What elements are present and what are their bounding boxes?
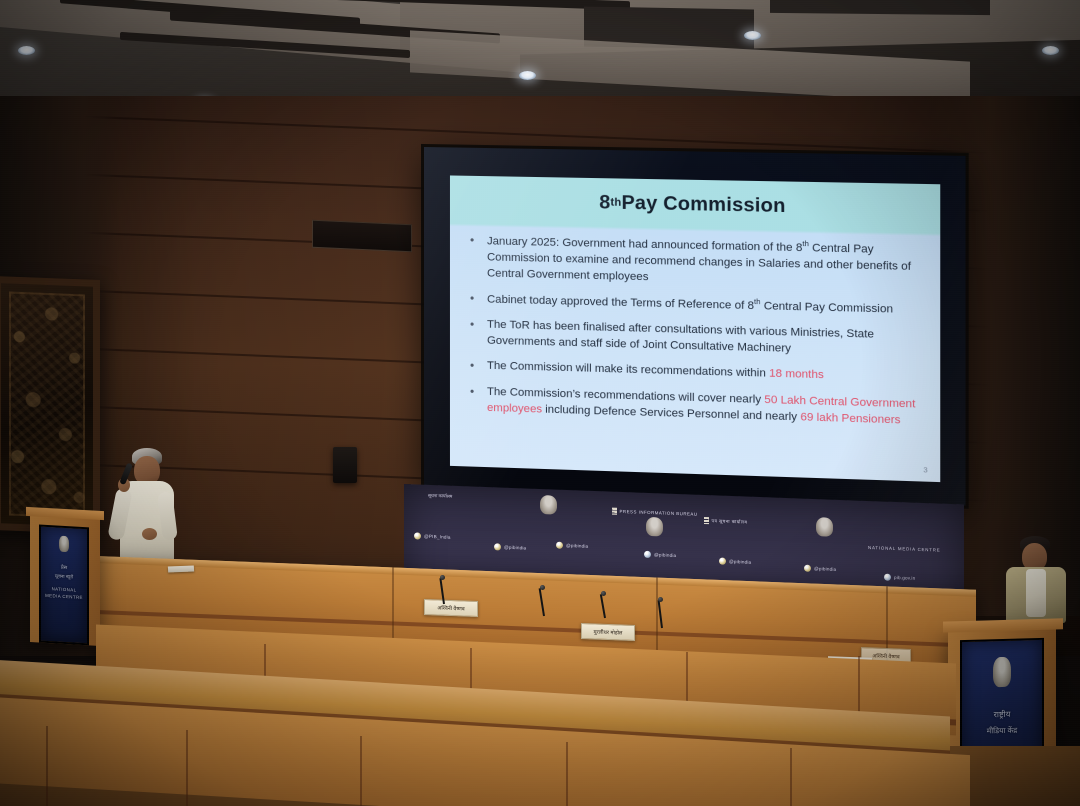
left-podium-plaque: प्रेस सूचना ब्यूरो NATIONAL MEDIA CENTRE bbox=[39, 525, 89, 646]
ceiling-downlight bbox=[1042, 46, 1059, 55]
backdrop-emblem-icon bbox=[816, 517, 833, 537]
ceiling-downlight bbox=[519, 71, 536, 80]
bullet-marker-icon: • bbox=[470, 357, 479, 374]
plaque-line-3: NATIONAL bbox=[52, 586, 77, 592]
projection-screen: 8th Pay Commission •January 2025: Govern… bbox=[424, 147, 966, 506]
official-shirt bbox=[1026, 569, 1046, 617]
seated-official bbox=[998, 536, 1074, 622]
ashoka-emblem-icon bbox=[59, 536, 69, 553]
slide-title-number: 8 bbox=[599, 191, 610, 214]
riser-seam bbox=[186, 730, 188, 806]
backdrop-handle: @pibindia bbox=[644, 551, 676, 559]
handle-text: @pibindia bbox=[566, 543, 588, 549]
bullet-segment: Cabinet today approved the Terms of Refe… bbox=[487, 293, 754, 312]
slide-title-rest: Pay Commission bbox=[621, 191, 785, 217]
microphone-head-icon bbox=[440, 575, 445, 580]
riser-seam bbox=[566, 742, 568, 806]
handle-text: @PIB_India bbox=[424, 534, 451, 540]
bullet-highlight: 69 lakh Pensioners bbox=[800, 411, 900, 426]
backdrop-emblem-icon bbox=[646, 517, 663, 537]
slide-bullet-list: •January 2025: Government had announced … bbox=[470, 232, 923, 439]
backdrop-website: pib.gov.in bbox=[884, 574, 915, 582]
backdrop-handle: @pibindia bbox=[494, 543, 526, 551]
speaker-right-hand bbox=[142, 528, 157, 540]
bullet-segment: January 2025: Government had announced f… bbox=[487, 235, 802, 254]
presentation-slide: 8th Pay Commission •January 2025: Govern… bbox=[450, 175, 940, 482]
plaque-line-1: राष्ट्रीय bbox=[994, 709, 1011, 720]
backdrop-hindi-mark: सूचना कार्यालय bbox=[428, 493, 452, 500]
slide-bullet: •The Commission’s recommendations will c… bbox=[470, 383, 923, 429]
ceiling-downlight bbox=[18, 46, 35, 55]
bullet-marker-icon: • bbox=[470, 290, 479, 307]
riser-seam bbox=[46, 726, 48, 806]
backdrop-org-mark: पत्र सूचना कार्यालय bbox=[704, 517, 747, 526]
bullet-marker-icon: • bbox=[470, 383, 479, 415]
bullet-segment: The Commission will make its recommendat… bbox=[487, 360, 769, 380]
slide-title-ordinal: th bbox=[610, 197, 621, 209]
carved-wall-artwork bbox=[0, 276, 100, 534]
bullet-text: The ToR has been finalised after consult… bbox=[487, 316, 923, 360]
backdrop-org-text: PRESS INFORMATION BUREAU bbox=[620, 509, 698, 517]
bullet-text: The Commission’s recommendations will co… bbox=[487, 384, 923, 429]
wall-speaker-icon bbox=[333, 447, 357, 483]
slide-page-number: 3 bbox=[923, 465, 927, 474]
handle-text: @pibindia bbox=[504, 545, 526, 551]
nameplate: मुरलीधर मोहोल bbox=[581, 623, 635, 641]
bullet-marker-icon: • bbox=[470, 232, 479, 281]
bullet-segment: Central Pay Commission bbox=[761, 300, 894, 315]
plaque-line-4: MEDIA CENTRE bbox=[45, 593, 83, 600]
nameplate-text: मुरलीधर मोहोल bbox=[594, 627, 623, 636]
microphone-head-icon bbox=[658, 597, 663, 602]
nameplate-text: अश्विनी वैष्णव bbox=[872, 651, 899, 660]
nameplate: अश्विनी वैष्णव bbox=[424, 599, 478, 617]
bullet-text: Cabinet today approved the Terms of Refe… bbox=[487, 290, 923, 318]
left-podium: प्रेस सूचना ब्यूरो NATIONAL MEDIA CENTRE bbox=[30, 514, 100, 646]
nameplate-text: अश्विनी वैष्णव bbox=[437, 603, 464, 612]
ashoka-emblem-icon bbox=[993, 657, 1011, 688]
handle-text: @pibindia bbox=[729, 559, 751, 565]
plaque-line-1: प्रेस bbox=[61, 565, 67, 571]
press-conference-photo: 8th Pay Commission •January 2025: Govern… bbox=[0, 0, 1080, 806]
website-text: pib.gov.in bbox=[894, 575, 915, 581]
bullet-segment: The ToR has been finalised after consult… bbox=[487, 318, 874, 354]
backdrop-emblem-icon bbox=[540, 495, 557, 515]
handle-text: @pibindia bbox=[654, 552, 676, 558]
riser-seam bbox=[360, 736, 362, 806]
wall-vent-panel bbox=[312, 220, 412, 253]
slide-bullet: •January 2025: Government had announced … bbox=[470, 232, 923, 292]
bullet-marker-icon: • bbox=[470, 316, 479, 348]
riser-seam bbox=[790, 748, 792, 806]
ceiling-downlight bbox=[744, 31, 761, 40]
plaque-line-2: सूचना ब्यूरो bbox=[55, 573, 73, 580]
bullet-text: The Commission will make its recommendat… bbox=[487, 358, 923, 387]
slide-bullet: •The ToR has been finalised after consul… bbox=[470, 316, 923, 360]
documents-on-table bbox=[168, 566, 194, 573]
plaque-line-2: मीडिया केंद्र bbox=[987, 726, 1018, 737]
backdrop-brand-text: NATIONAL MEDIA CENTRE bbox=[868, 545, 940, 553]
slide-bullet: •Cabinet today approved the Terms of Ref… bbox=[470, 290, 923, 318]
handle-text: @pibindia bbox=[814, 566, 836, 572]
backdrop-handle: @PIB_India bbox=[414, 532, 451, 540]
bullet-text: January 2025: Government had announced f… bbox=[487, 232, 923, 291]
bullet-segment: including Defence Services Personnel and… bbox=[542, 404, 800, 424]
backdrop-handle: @pibindia bbox=[556, 542, 588, 550]
microphone-head-icon bbox=[540, 585, 545, 590]
slide-title: 8th Pay Commission bbox=[450, 175, 940, 233]
slide-bullet: •The Commission will make its recommenda… bbox=[470, 357, 923, 387]
backdrop-handle: @pibindia bbox=[804, 565, 836, 573]
backdrop-hindi-text: पत्र सूचना कार्यालय bbox=[712, 518, 748, 525]
backdrop-handle: @pibindia bbox=[719, 558, 751, 566]
microphone-head-icon bbox=[601, 591, 606, 596]
bullet-highlight: 18 months bbox=[769, 367, 824, 381]
